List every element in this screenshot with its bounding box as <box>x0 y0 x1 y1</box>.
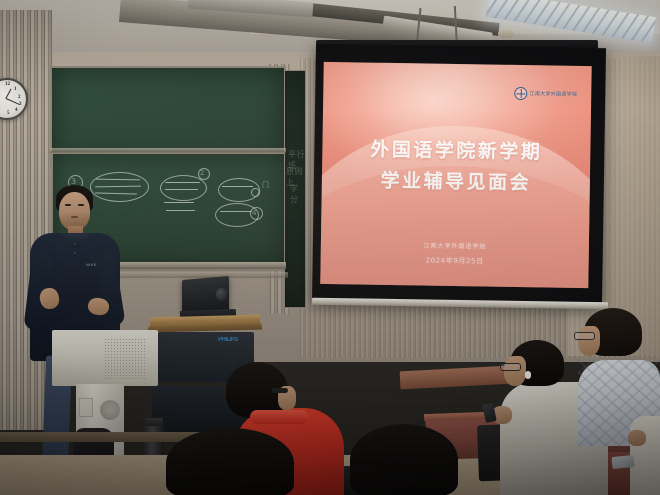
clock-numeral: 5 <box>7 111 10 116</box>
clock-numeral: 12 <box>5 82 10 87</box>
presenter-shirt-button <box>74 252 76 254</box>
podium-speaker <box>100 400 120 420</box>
chalk-note: 学分 <box>290 183 305 205</box>
glasses-icon <box>272 388 288 393</box>
podium-label-plate <box>79 398 93 417</box>
podium-brand-label: PHILIPS <box>218 337 238 343</box>
chalk-mark: 门 <box>262 180 270 190</box>
hoodie-hood <box>250 410 308 424</box>
baseboard <box>0 432 200 442</box>
chalk-number: 2 <box>200 169 205 177</box>
slatted-wall-left <box>0 10 52 430</box>
water-bottle-cap <box>145 418 163 426</box>
presenter-eye-left <box>65 204 71 206</box>
far-right-body <box>630 416 660 495</box>
clock-numeral: 4 <box>15 108 18 113</box>
glasses-icon <box>574 332 595 340</box>
presenter-mouth <box>71 216 78 218</box>
clock-numeral: 1 <box>14 87 17 92</box>
university-seal-icon <box>514 87 527 100</box>
student-face <box>504 356 526 386</box>
slide-logo-text: 江南大学外国语学院 <box>530 90 578 98</box>
chalk-small-circle <box>251 188 260 197</box>
chalk-number: 4 <box>252 209 257 217</box>
laptop-camera <box>216 288 227 301</box>
board-divider <box>49 148 286 153</box>
student-head-hair <box>166 428 294 495</box>
slide-title-line-1: 外国语学院新学期 <box>322 134 590 165</box>
classroom-photo: 12 1 2 3 4 5 平行班 原则上 学分 3 2 门 4 <box>0 0 660 495</box>
far-right-hand <box>628 430 646 446</box>
glasses-icon <box>500 363 521 371</box>
smartphone <box>482 403 497 423</box>
clock-numeral: 2 <box>18 95 21 100</box>
podium-vent-grille <box>104 338 146 380</box>
presenter-eye-right <box>78 204 84 206</box>
presentation-slide: 江南大学外国语学院 外国语学院新学期 学业辅导见面会 江南大学外国语学院 202… <box>320 62 591 288</box>
ceiling-mount <box>498 29 514 38</box>
slide-logo: 江南大学外国语学院 <box>514 87 577 101</box>
slide-title-line-2: 学业辅导见面会 <box>322 165 590 196</box>
desk-phone <box>611 455 634 469</box>
presenter-shirt-button <box>74 243 76 245</box>
student-head-hair <box>350 424 458 495</box>
student-face <box>578 326 600 356</box>
earbud-icon <box>525 371 531 379</box>
